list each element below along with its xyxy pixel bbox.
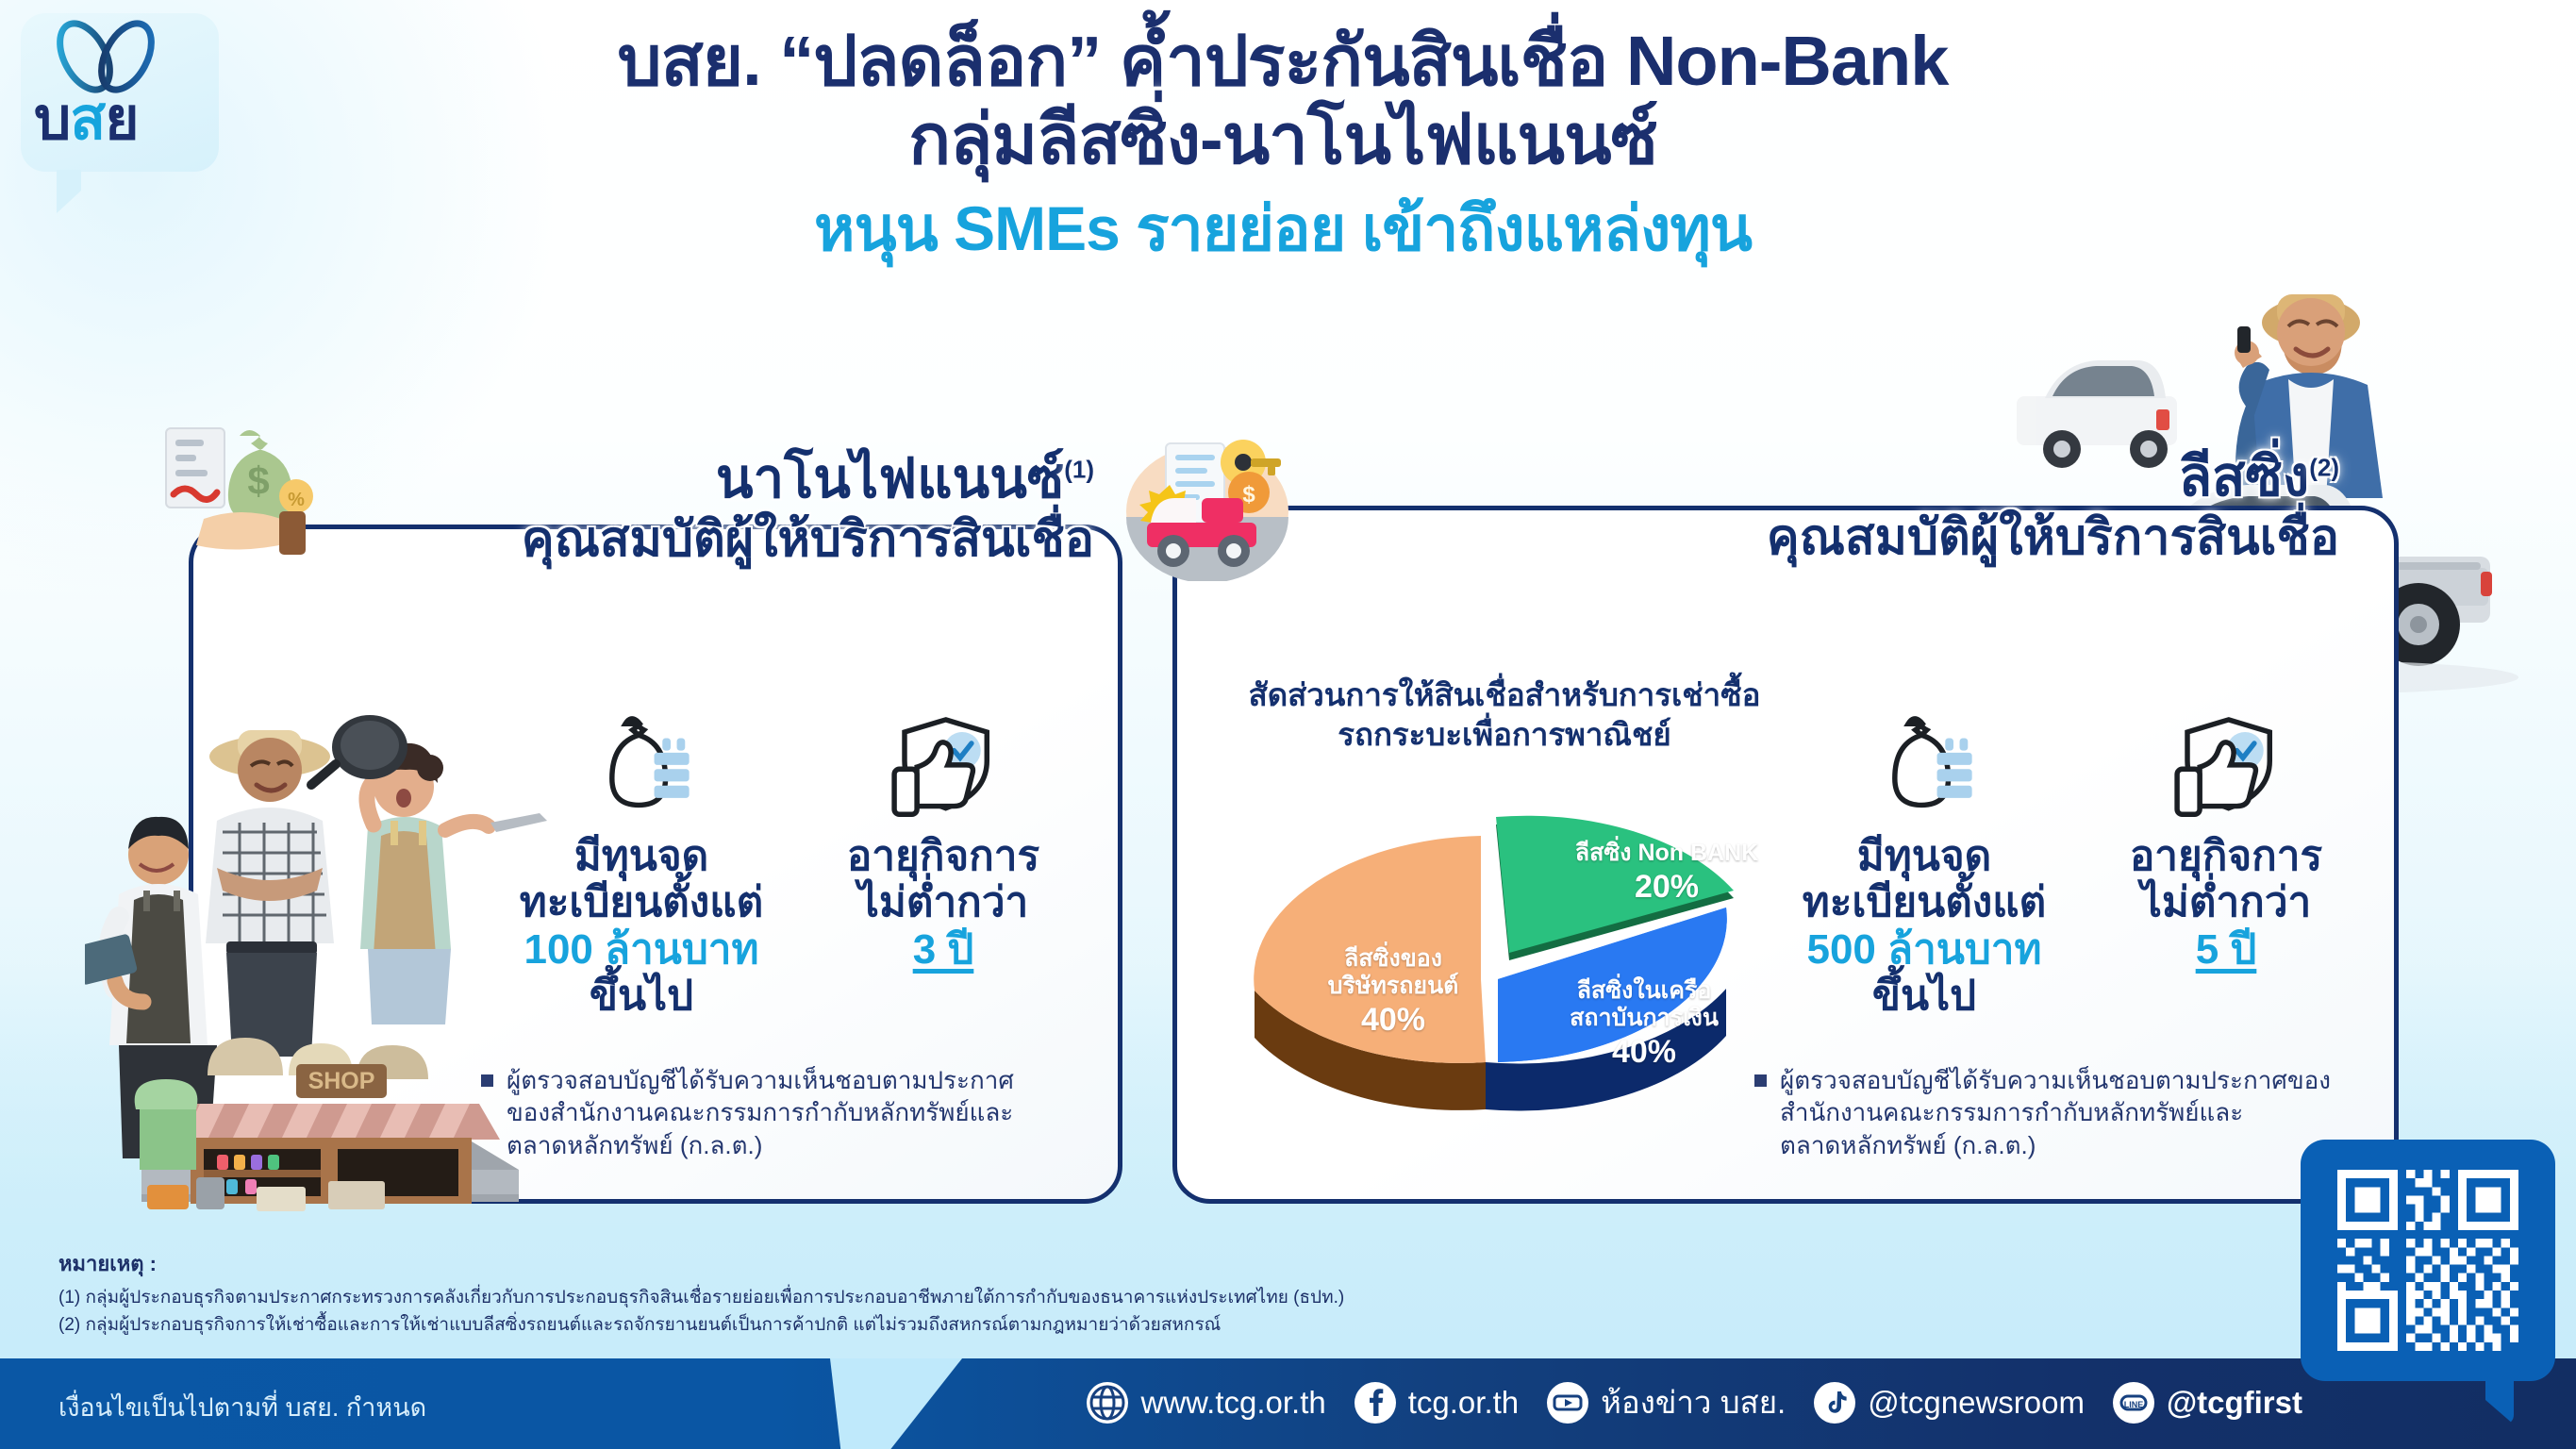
feature-leasing-capital: มีทุนจด ทะเบียนตั้งแต่ 500 ล้านบาท ขึ้นไ… (1754, 709, 2094, 1019)
infinity-logo-icon (43, 17, 166, 96)
panel-footnote-ref-leasing: (2) (2309, 454, 2339, 482)
footer-accent-shape (830, 1358, 962, 1449)
footnote-item-2: (2) กลุ่มผู้ประกอบธุรกิจการให้เช่าซื้อแล… (58, 1312, 1662, 1340)
note-leasing: ผู้ตรวจสอบบัญชีได้รับความเห็นชอบตามประกา… (1754, 1064, 2339, 1161)
footer-disclaimer: เงื่อนไขเป็นไปตามที่ บสย. กำหนด (58, 1387, 426, 1427)
pie-label-blue-text-2: สถาบันการเงิน (1570, 1005, 1719, 1031)
note-text: ผู้ตรวจสอบบัญชีได้รับความเห็นชอบตามประกา… (507, 1064, 1047, 1161)
panel-title-leasing: ลีสซิ่ง (2179, 446, 2310, 508)
pie-label-orange-text-1: ลีสซิ่งของ (1344, 945, 1442, 972)
feature-highlight-age: 3 ปี (913, 926, 974, 973)
bullet-square-icon (1754, 1074, 1767, 1087)
thumbs-up-shield-check-icon (2165, 709, 2288, 823)
qr-code-icon (2333, 1170, 2523, 1351)
svg-text:$: $ (247, 458, 269, 503)
footer-social-links: www.tcg.or.th tcg.or.th ห้องข่าว บสย. (1087, 1377, 2302, 1427)
feature-text-line3: ขึ้นไป (590, 973, 693, 1019)
panel-header-leasing: ลีสซิ่ง(2) คุณสมบัติผู้ให้บริการสินเชื่อ (1255, 449, 2339, 563)
chart-title-line-1: สัดส่วนการให้สินเชื่อสำหรับการเช่าซื้อ (1249, 677, 1761, 712)
chart-title-line-2: รถกระบะเพื่อการพาณิชย์ (1338, 717, 1671, 752)
footnotes-block: หมายเหตุ : (1) กลุ่มผู้ประกอบธุรกิจตามปร… (58, 1247, 1662, 1340)
thumbs-up-shield-check-icon (882, 709, 1005, 823)
logo-char-2: ส (70, 87, 105, 152)
money-bag-coins-icon (580, 709, 704, 823)
social-label-tiktok: @tcgnewsroom (1868, 1385, 2085, 1421)
feature-text-line3: ขึ้นไป (1872, 973, 1976, 1019)
svg-text:%: % (288, 490, 305, 510)
feature-text-line2: ไม่ต่ำกว่า (858, 879, 1028, 925)
social-label-line: @tcgfirst (2167, 1385, 2302, 1421)
tiktok-icon (1814, 1382, 1855, 1424)
svg-text:LINE: LINE (2124, 1400, 2144, 1409)
pie-label-blue: ลีสซิ่งในเครือ สถาบันการเงิน 40% (1536, 977, 1753, 1071)
footer-bar: เงื่อนไขเป็นไปตามที่ บสย. กำหนด www.tcg.… (0, 1358, 2576, 1449)
headline-block: บสย. “ปลดล็อก” ค้ำประกันสินเชื่อ Non-Ban… (283, 23, 2283, 262)
pie-value-blue: 40% (1536, 1034, 1753, 1071)
social-link-facebook[interactable]: tcg.or.th (1354, 1382, 1519, 1424)
facebook-icon (1354, 1382, 1396, 1424)
line-icon: LINE (2113, 1382, 2154, 1424)
pie-value-orange: 40% (1285, 1002, 1502, 1039)
feature-text-line2: ทะเบียนตั้งแต่ (1803, 879, 2046, 925)
youtube-icon (1547, 1382, 1588, 1424)
chart-title: สัดส่วนการให้สินเชื่อสำหรับการเช่าซื้อ ร… (1203, 675, 1806, 755)
social-label-website: www.tcg.or.th (1140, 1385, 1325, 1421)
social-label-youtube: ห้องข่าว บสย. (1601, 1377, 1786, 1427)
social-link-tiktok[interactable]: @tcgnewsroom (1814, 1382, 2085, 1424)
footnotes-heading: หมายเหตุ : (58, 1247, 1662, 1280)
logo-char-3: ย (105, 87, 138, 152)
truck-key-document-icon: $ (1122, 430, 1292, 581)
feature-text-line1: มีทุนจด (1857, 833, 1991, 879)
pie-value-green: 20% (1549, 869, 1785, 906)
pie-label-blue-text-1: ลีสซิ่งในเครือ (1577, 977, 1712, 1004)
headline-line-2: กลุ่มลีสซิ่ง-นาโนไฟแนนซ์ (283, 101, 2283, 179)
pie-chart: ลีสซิ่ง Non BANK 20% ลีสซิ่งในเครือ สถาบ… (1198, 792, 1783, 1170)
feature-leasing-age: อายุกิจการ ไม่ต่ำกว่า 5 ปี (2085, 709, 2368, 973)
svg-text:$: $ (1242, 482, 1255, 508)
footnote-item-1: (1) กลุ่มผู้ประกอบธุรกิจตามประกาศกระทรวง… (58, 1285, 1662, 1312)
svg-text:SHOP: SHOP (308, 1068, 375, 1094)
bullet-square-icon (481, 1074, 493, 1087)
note-nano-finance: ผู้ตรวจสอบบัญชีได้รับความเห็นชอบตามประกา… (481, 1064, 1047, 1161)
panel-subtitle-nano: คุณสมบัติผู้ให้บริการสินเชื่อ (283, 514, 1094, 566)
qr-bubble[interactable] (2301, 1140, 2555, 1381)
feature-text-line1: อายุกิจการ (2130, 833, 2322, 879)
pie-label-green: ลีสซิ่ง Non BANK 20% (1549, 840, 1785, 906)
globe-website-icon (1087, 1382, 1128, 1424)
subheadline: หนุน SMEs รายย่อย เข้าถึงแหล่งทุน (283, 194, 2283, 263)
note-text: ผู้ตรวจสอบบัญชีได้รับความเห็นชอบตามประกา… (1780, 1064, 2339, 1161)
headline-line-1: บสย. “ปลดล็อก” ค้ำประกันสินเชื่อ Non-Ban… (283, 23, 2283, 101)
hand-holding-money-bag-icon: $ % (158, 413, 347, 564)
feature-highlight-age: 5 ปี (2196, 926, 2257, 973)
logo-wordmark: บสย (34, 91, 194, 149)
logo-char-1: บ (34, 87, 70, 152)
money-bag-coins-icon (1863, 709, 1986, 823)
social-link-youtube[interactable]: ห้องข่าว บสย. (1547, 1377, 1786, 1427)
social-link-website[interactable]: www.tcg.or.th (1087, 1382, 1325, 1424)
feature-highlight-capital: 500 ล้านบาท (1806, 926, 2041, 973)
feature-text-line1: อายุกิจการ (847, 833, 1039, 879)
social-link-line[interactable]: LINE @tcgfirst (2113, 1382, 2302, 1424)
pie-label-orange-text-2: บริษัทรถยนต์ (1328, 973, 1459, 999)
pie-label-green-text: ลีสซิ่ง Non BANK (1575, 840, 1758, 866)
panel-title-nano: นาโนไฟแนนซ์ (716, 448, 1064, 509)
feature-nano-age: อายุกิจการ ไม่ต่ำกว่า 3 ปี (802, 709, 1085, 973)
feature-text-line1: มีทุนจด (574, 833, 708, 879)
pie-label-orange: ลีสซิ่งของ บริษัทรถยนต์ 40% (1285, 945, 1502, 1039)
social-label-facebook: tcg.or.th (1408, 1385, 1519, 1421)
panel-subtitle-leasing: คุณสมบัติผู้ให้บริการสินเชื่อ (1255, 512, 2339, 564)
panel-header-nano-finance: นาโนไฟแนนซ์(1) คุณสมบัติผู้ให้บริการสินเ… (283, 451, 1094, 565)
feature-text-line2: ไม่ต่ำกว่า (2141, 879, 2311, 925)
panel-footnote-ref-nano: (1) (1064, 456, 1094, 484)
